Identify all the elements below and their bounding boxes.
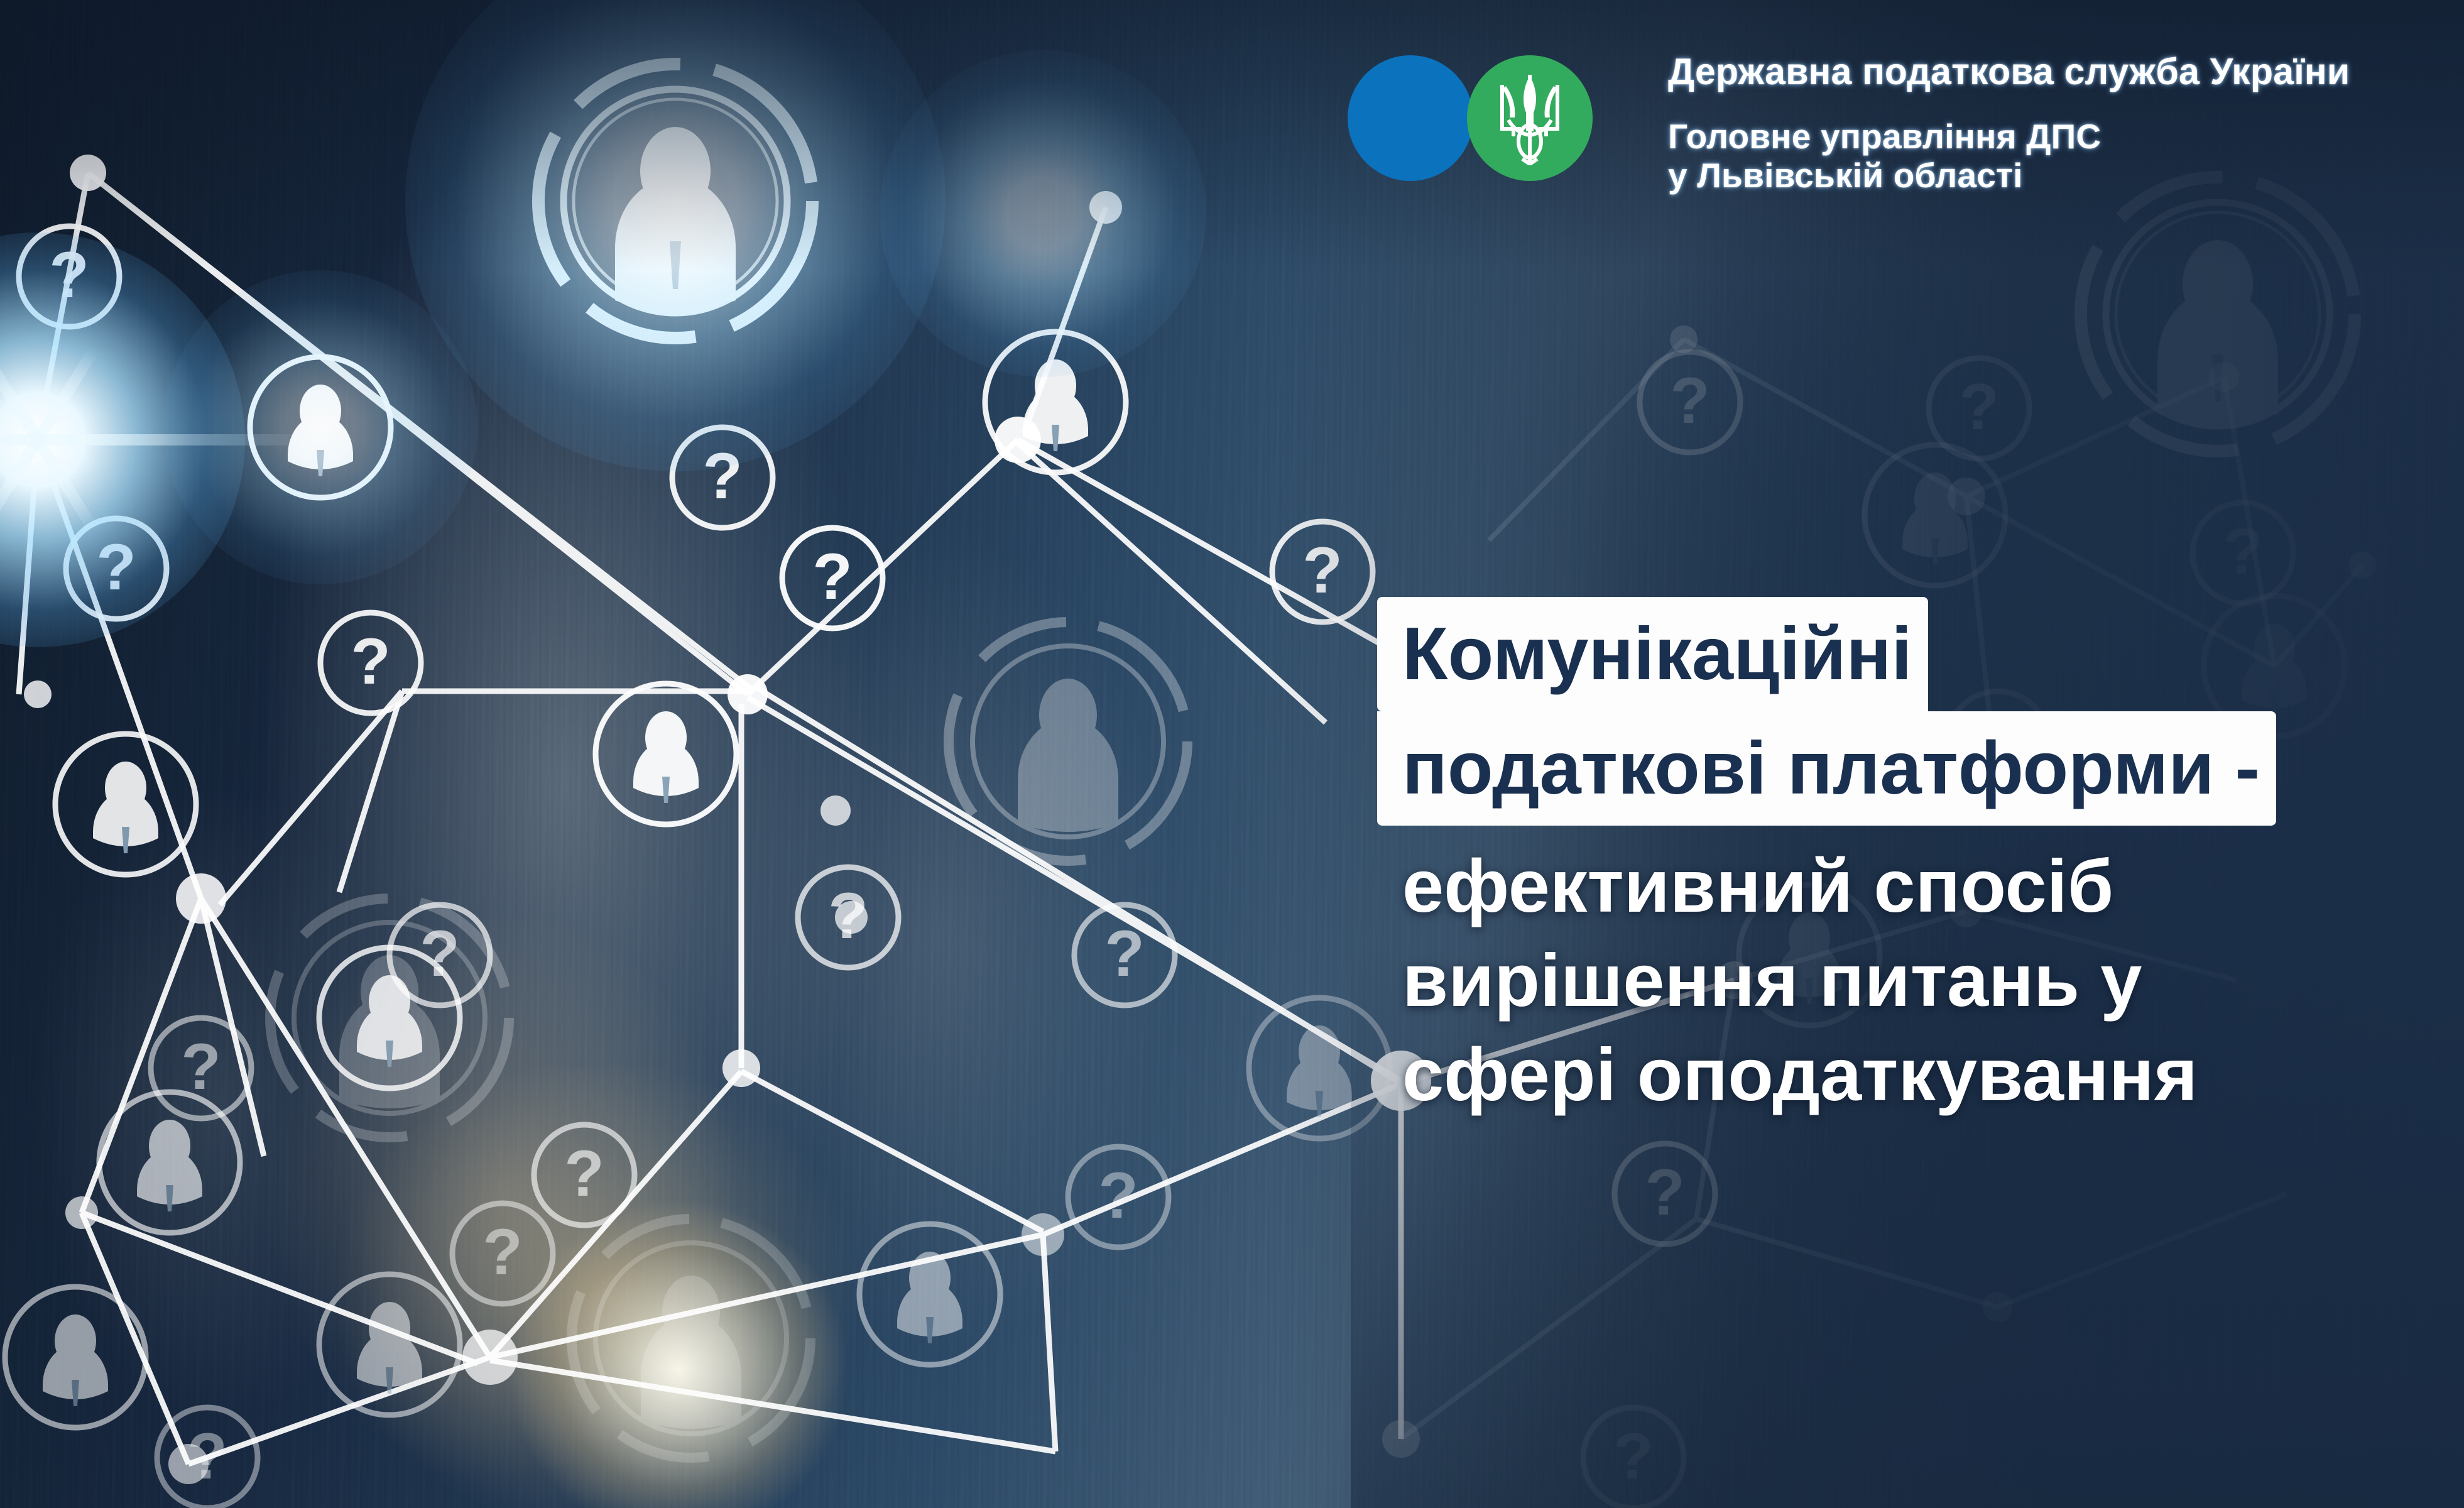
organization-header: Державна податкова служба України Головн… (1668, 52, 2464, 195)
green-circle (1467, 55, 1593, 181)
blue-circle (1348, 55, 1473, 181)
title-row-1: Комунікаційні (1377, 597, 2464, 711)
title-line-1: Комунікаційні (1377, 597, 1928, 711)
dps-logo (1348, 55, 1599, 181)
title-line-5: сфері оподаткування (1377, 1028, 2464, 1122)
title-row-2: податкові платформи - (1377, 711, 2464, 826)
title-line-2: податкові платформи - (1377, 711, 2276, 826)
org-line-3: у Львівській області (1668, 156, 2464, 195)
banner-title: Комунікаційні податкові платформи - ефек… (1377, 597, 2464, 1122)
banner-canvas: ? (0, 0, 2464, 1508)
ukraine-trident-icon (1492, 71, 1567, 165)
title-line-3: ефективний спосіб (1377, 839, 2464, 934)
title-line-4: вирішення питань у (1377, 934, 2464, 1028)
org-line-1: Державна податкова служба України (1668, 52, 2464, 92)
org-line-2: Головне управління ДПС (1668, 117, 2464, 156)
